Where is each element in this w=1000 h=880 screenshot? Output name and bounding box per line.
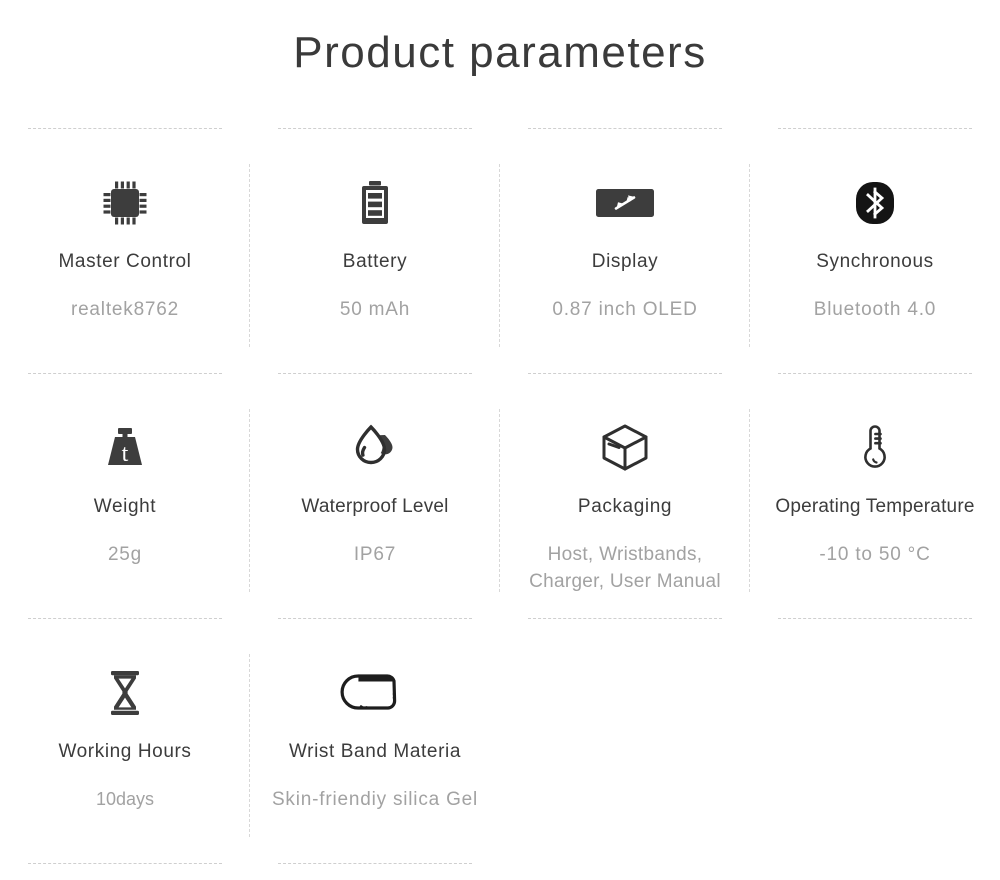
weight-icon: t <box>97 417 153 479</box>
spec-value: 0.87 inch OLED <box>552 297 697 324</box>
spec-value: 50 mAh <box>340 297 410 324</box>
spec-label: Wrist Band Materia <box>289 740 461 765</box>
cell-bottom-divider <box>278 863 472 864</box>
spec-label: Waterproof Level <box>301 495 448 520</box>
cell-bottom-divider <box>28 863 222 864</box>
page-title: Product parameters <box>0 28 1000 78</box>
spec-grid: Master Control realtek8762 Battery 50 mA… <box>0 128 1000 863</box>
spec-cell-weight: t Weight 25g <box>0 373 250 618</box>
spec-value-line-1: Host, Wristbands, <box>529 542 721 569</box>
spec-label: Display <box>592 250 659 275</box>
spec-value-line-2: Charger, User Manual <box>529 569 721 596</box>
water-drop-icon <box>347 417 403 479</box>
spec-cell-working-hours: Working Hours 10days <box>0 618 250 863</box>
spec-cell-operating-temperature: Operating Temperature -10 to 50 °C <box>750 373 1000 618</box>
spec-value: Host, Wristbands, Charger, User Manual <box>529 542 721 596</box>
display-resize-icon <box>594 172 656 234</box>
spec-cell-wrist-band-material: Wrist Band Materia Skin-friendiy silica … <box>250 618 500 863</box>
spec-label: Working Hours <box>58 740 191 765</box>
spec-cell-synchronous: Synchronous Bluetooth 4.0 <box>750 128 1000 373</box>
spec-cell-empty-2 <box>750 618 1000 863</box>
spec-cell-display: Display 0.87 inch OLED <box>500 128 750 373</box>
spec-value: IP67 <box>354 542 396 569</box>
spec-cell-empty-1 <box>500 618 750 863</box>
spec-value: Bluetooth 4.0 <box>814 297 936 324</box>
wristband-icon <box>338 662 412 724</box>
spec-label: Packaging <box>578 495 672 520</box>
product-parameters-page: Product parameters <box>0 0 1000 880</box>
package-box-icon <box>596 417 654 479</box>
spec-value: 25g <box>108 542 142 569</box>
spec-cell-master-control: Master Control realtek8762 <box>0 128 250 373</box>
spec-label: Synchronous <box>816 250 934 275</box>
bluetooth-icon <box>852 172 898 234</box>
svg-text:t: t <box>122 441 129 467</box>
battery-icon <box>349 172 401 234</box>
spec-label: Master Control <box>59 250 192 275</box>
spec-cell-packaging: Packaging Host, Wristbands, Charger, Use… <box>500 373 750 618</box>
chip-icon <box>98 172 152 234</box>
spec-value: -10 to 50 °C <box>819 542 930 569</box>
spec-cell-battery: Battery 50 mAh <box>250 128 500 373</box>
spec-value: Skin-friendiy silica Gel <box>272 787 478 814</box>
spec-value: realtek8762 <box>71 297 179 324</box>
spec-label: Battery <box>343 250 407 275</box>
spec-label: Weight <box>94 495 156 520</box>
hourglass-icon <box>103 662 147 724</box>
thermometer-icon <box>855 417 895 479</box>
spec-value: 10days <box>96 787 154 813</box>
spec-label: Operating Temperature <box>775 495 974 520</box>
spec-cell-waterproof: Waterproof Level IP67 <box>250 373 500 618</box>
